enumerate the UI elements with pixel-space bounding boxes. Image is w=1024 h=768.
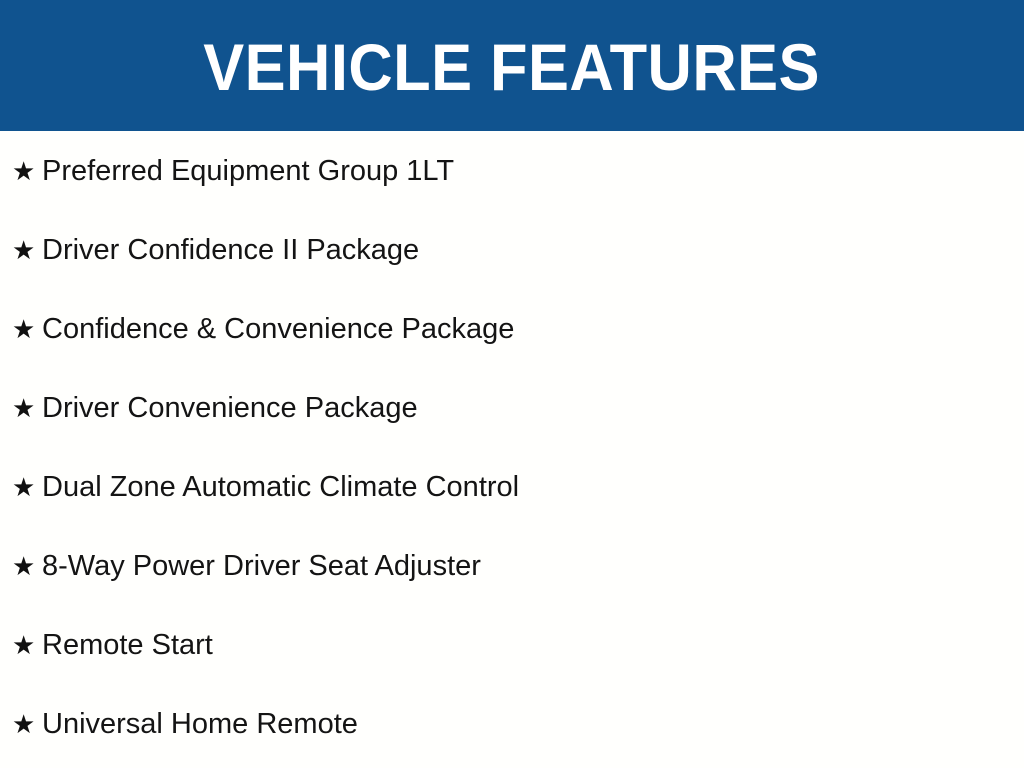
list-item: ★ Driver Convenience Package <box>0 368 1024 447</box>
feature-label: Driver Confidence II Package <box>42 233 419 267</box>
features-list: ★ Preferred Equipment Group 1LT ★ Driver… <box>0 131 1024 763</box>
star-icon: ★ <box>12 395 42 421</box>
star-icon: ★ <box>12 553 42 579</box>
vehicle-features-page: VEHICLE FEATURES ★ Preferred Equipment G… <box>0 0 1024 768</box>
feature-label: Dual Zone Automatic Climate Control <box>42 470 519 504</box>
star-icon: ★ <box>12 158 42 184</box>
feature-label: 8-Way Power Driver Seat Adjuster <box>42 549 481 583</box>
list-item: ★ Confidence & Convenience Package <box>0 289 1024 368</box>
feature-label: Universal Home Remote <box>42 707 358 741</box>
star-icon: ★ <box>12 316 42 342</box>
list-item: ★ Dual Zone Automatic Climate Control <box>0 447 1024 526</box>
feature-label: Confidence & Convenience Package <box>42 312 514 346</box>
list-item: ★ 8-Way Power Driver Seat Adjuster <box>0 526 1024 605</box>
star-icon: ★ <box>12 711 42 737</box>
feature-label: Driver Convenience Package <box>42 391 418 425</box>
list-item: ★ Remote Start <box>0 605 1024 684</box>
list-item: ★ Universal Home Remote <box>0 684 1024 763</box>
header-banner: VEHICLE FEATURES <box>0 0 1024 131</box>
feature-label: Preferred Equipment Group 1LT <box>42 154 454 188</box>
page-title: VEHICLE FEATURES <box>204 34 821 100</box>
list-item: ★ Preferred Equipment Group 1LT <box>0 131 1024 210</box>
list-item: ★ Driver Confidence II Package <box>0 210 1024 289</box>
star-icon: ★ <box>12 474 42 500</box>
star-icon: ★ <box>12 632 42 658</box>
feature-label: Remote Start <box>42 628 213 662</box>
star-icon: ★ <box>12 237 42 263</box>
